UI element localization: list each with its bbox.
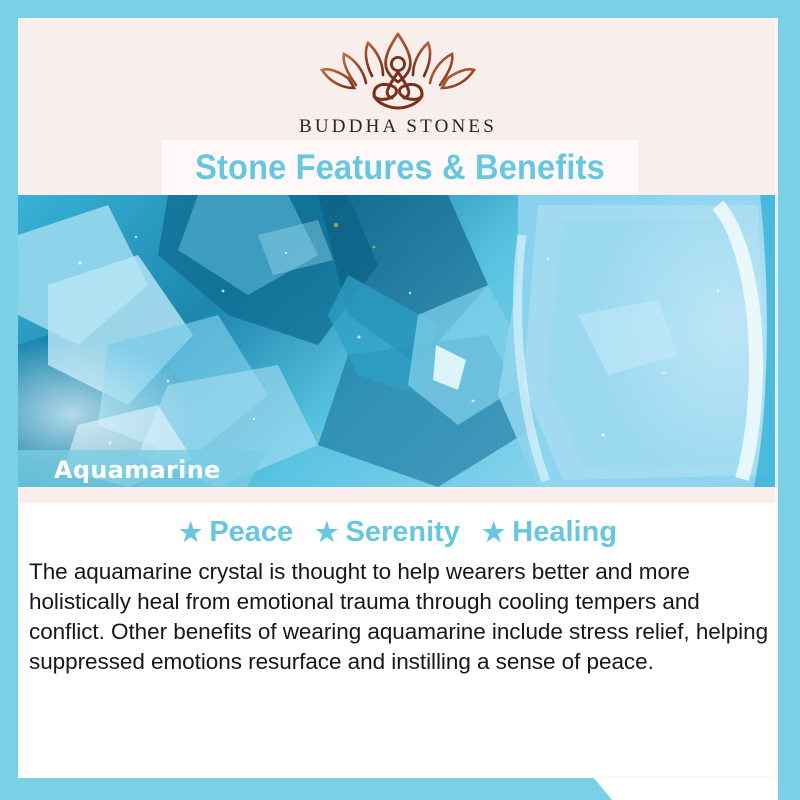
keyword-label: Peace — [209, 516, 293, 549]
brand-logo: BUDDHA STONES — [18, 18, 778, 158]
frame-border-bottom — [0, 778, 612, 800]
frame-border-right — [778, 0, 800, 800]
brand-name: BUDDHA STONES — [299, 116, 497, 138]
cream-divider-strip — [18, 487, 778, 503]
keyword-item-serenity: ★ Serenity — [315, 516, 460, 549]
frame-border-left — [0, 0, 18, 782]
star-icon: ★ — [179, 519, 202, 545]
infographic-page: BUDDHA STONES Stone Features & Benefits — [0, 0, 800, 800]
crystal-photo — [18, 195, 778, 487]
keyword-item-peace: ★ Peace — [179, 516, 293, 549]
frame-hairline-right — [775, 18, 778, 782]
frame-border-top — [0, 0, 800, 18]
keyword-item-healing: ★ Healing — [482, 516, 617, 549]
description-paragraph: The aquamarine crystal is thought to hel… — [29, 557, 769, 677]
star-icon: ★ — [482, 519, 505, 545]
keyword-row: ★ Peace ★ Serenity ★ Healing — [18, 512, 778, 552]
star-icon: ★ — [315, 519, 338, 545]
lotus-yoga-figure-icon — [312, 30, 484, 112]
frame-hairline-bottom — [18, 775, 778, 778]
keyword-label: Serenity — [345, 516, 459, 549]
keyword-label: Healing — [512, 516, 617, 549]
page-title: Stone Features & Benefits — [179, 142, 622, 194]
stone-name-label: Aquamarine — [54, 452, 221, 488]
